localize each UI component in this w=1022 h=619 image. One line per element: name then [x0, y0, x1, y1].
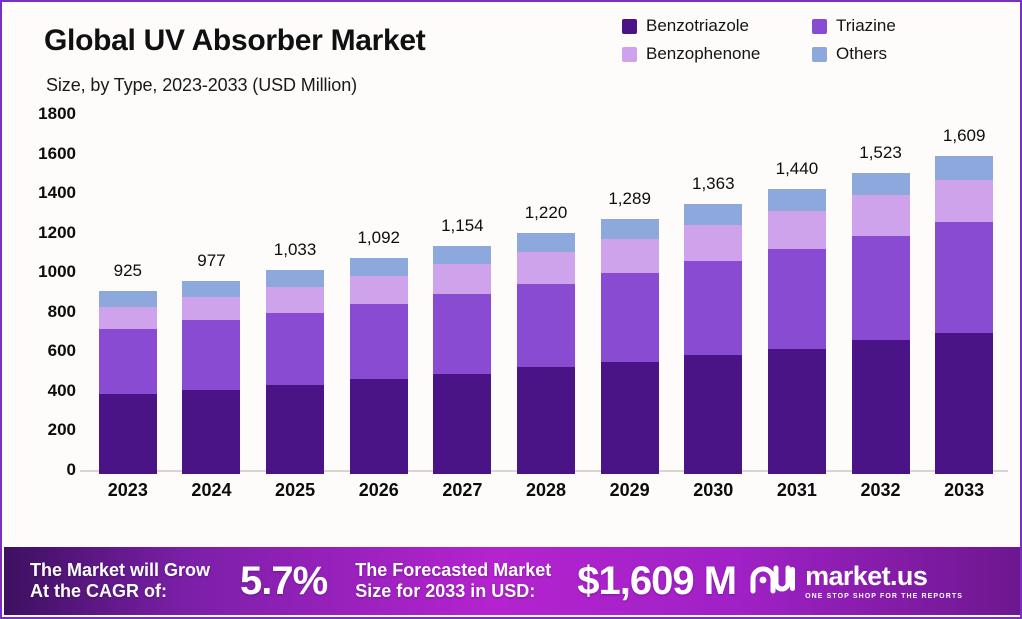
bar-total-label: 1,440 — [776, 159, 819, 179]
y-axis-tick: 1200 — [38, 223, 76, 243]
bar-total-label: 1,289 — [608, 189, 651, 209]
bar-segment-benzophenone[interactable] — [768, 211, 826, 249]
bar-segment-triazine[interactable] — [350, 304, 408, 379]
x-axis-label: 2033 — [944, 480, 984, 501]
bar-total-label: 1,154 — [441, 216, 484, 236]
x-axis-label: 2026 — [359, 480, 399, 501]
cagr-label-line2: At the CAGR of: — [30, 581, 210, 602]
y-axis-tick: 400 — [48, 381, 76, 401]
bar-column[interactable] — [601, 219, 659, 474]
logo-name: market.us — [805, 563, 963, 590]
bar-segment-triazine[interactable] — [852, 236, 910, 341]
footer-banner: The Market will Grow At the CAGR of: 5.7… — [4, 547, 1022, 615]
bar-segment-triazine[interactable] — [768, 249, 826, 349]
forecast-value: $1,609 M — [577, 558, 736, 604]
y-axis-tick: 600 — [48, 341, 76, 361]
bar-segment-benzophenone[interactable] — [99, 307, 157, 329]
bar-segment-benzotriazole[interactable] — [852, 340, 910, 474]
bar-segment-triazine[interactable] — [935, 222, 993, 333]
forecast-label-line1: The Forecasted Market — [355, 560, 551, 581]
bar-total-label: 1,092 — [357, 228, 400, 248]
y-axis-tick: 1400 — [38, 183, 76, 203]
logo-tagline: ONE STOP SHOP FOR THE REPORTS — [805, 593, 963, 600]
bar-segment-others[interactable] — [852, 173, 910, 195]
legend-item-benzophenone[interactable]: Benzophenone — [622, 44, 812, 64]
legend-label: Others — [836, 44, 887, 64]
bar-segment-others[interactable] — [99, 291, 157, 307]
y-axis-tick: 1800 — [38, 104, 76, 124]
bar-segment-benzotriazole[interactable] — [935, 333, 993, 474]
bar-total-label: 1,363 — [692, 174, 735, 194]
bar-segment-triazine[interactable] — [182, 320, 240, 390]
bar-segment-triazine[interactable] — [684, 261, 742, 355]
bar-total-label: 925 — [114, 261, 142, 281]
x-axis-label: 2031 — [777, 480, 817, 501]
y-axis: 020040060080010001200140016001800 — [2, 107, 76, 479]
y-axis-tick: 1600 — [38, 144, 76, 164]
legend-item-others[interactable]: Others — [812, 44, 1002, 64]
bar-segment-benzophenone[interactable] — [266, 287, 324, 313]
bar-segment-benzophenone[interactable] — [601, 239, 659, 273]
bar-segment-benzophenone[interactable] — [350, 276, 408, 304]
bar-column[interactable] — [935, 156, 993, 474]
bar-segment-benzotriazole[interactable] — [99, 394, 157, 474]
legend-label: Benzotriazole — [646, 16, 749, 36]
bar-segment-benzotriazole[interactable] — [684, 355, 742, 474]
market-us-logo: market.us ONE STOP SHOP FOR THE REPORTS — [750, 563, 963, 600]
y-axis-tick: 800 — [48, 302, 76, 322]
bar-segment-benzotriazole[interactable] — [601, 362, 659, 474]
bar-segment-others[interactable] — [768, 189, 826, 210]
bar-column[interactable] — [350, 258, 408, 474]
bar-column[interactable] — [684, 204, 742, 474]
bar-column[interactable] — [182, 281, 240, 474]
bar-segment-triazine[interactable] — [517, 284, 575, 367]
y-axis-tick: 1000 — [38, 262, 76, 282]
forecast-label-line2: Size for 2033 in USD: — [355, 581, 551, 602]
bar-segment-others[interactable] — [684, 204, 742, 225]
plot-area: 9259771,0331,0921,1541,2201,2891,3631,44… — [86, 114, 1006, 474]
bar-column[interactable] — [517, 233, 575, 474]
bar-segment-benzotriazole[interactable] — [433, 374, 491, 474]
bar-segment-benzotriazole[interactable] — [768, 349, 826, 474]
bar-segment-triazine[interactable] — [266, 313, 324, 385]
x-axis-label: 2032 — [861, 480, 901, 501]
bar-column[interactable] — [266, 270, 324, 474]
cagr-label: The Market will Grow At the CAGR of: — [30, 560, 210, 601]
bar-total-label: 1,523 — [859, 143, 902, 163]
y-axis-tick: 0 — [67, 460, 76, 480]
bar-segment-benzophenone[interactable] — [852, 195, 910, 236]
bar-total-label: 977 — [197, 251, 225, 271]
x-axis-label: 2023 — [108, 480, 148, 501]
bar-segment-benzophenone[interactable] — [517, 252, 575, 284]
bar-segment-benzophenone[interactable] — [433, 264, 491, 293]
x-axis-label: 2024 — [191, 480, 231, 501]
market-us-wordmark: market.us ONE STOP SHOP FOR THE REPORTS — [805, 563, 963, 600]
cagr-label-line1: The Market will Grow — [30, 560, 210, 581]
market-us-mark-icon — [750, 564, 796, 599]
bar-segment-benzotriazole[interactable] — [350, 379, 408, 474]
chart-legend: BenzotriazoleTriazineBenzophenoneOthers — [622, 16, 1002, 72]
x-axis-label: 2027 — [442, 480, 482, 501]
bar-segment-triazine[interactable] — [601, 273, 659, 362]
bar-segment-others[interactable] — [517, 233, 575, 252]
legend-swatch-benzophenone — [622, 47, 637, 62]
bar-segment-benzophenone[interactable] — [935, 180, 993, 223]
bar-segment-benzophenone[interactable] — [684, 225, 742, 261]
x-axis-label: 2025 — [275, 480, 315, 501]
x-axis-label: 2029 — [610, 480, 650, 501]
legend-label: Benzophenone — [646, 44, 760, 64]
legend-swatch-triazine — [812, 19, 827, 34]
x-axis-label: 2028 — [526, 480, 566, 501]
bar-segment-benzotriazole[interactable] — [266, 385, 324, 474]
bar-segment-triazine[interactable] — [99, 329, 157, 394]
bar-segment-others[interactable] — [433, 246, 491, 265]
bar-column[interactable] — [99, 291, 157, 474]
bar-total-label: 1,220 — [525, 203, 568, 223]
bar-segment-benzotriazole[interactable] — [517, 367, 575, 474]
bar-column[interactable] — [852, 173, 910, 474]
bar-segment-others[interactable] — [350, 258, 408, 276]
legend-swatch-benzotriazole — [622, 19, 637, 34]
bar-segment-benzophenone[interactable] — [182, 297, 240, 321]
bar-column[interactable] — [433, 246, 491, 474]
cagr-value: 5.7% — [240, 558, 327, 604]
page-subtitle: Size, by Type, 2023-2033 (USD Million) — [46, 75, 357, 96]
bar-total-label: 1,609 — [943, 126, 986, 146]
legend-item-benzotriazole[interactable]: Benzotriazole — [622, 16, 812, 36]
bar-segment-others[interactable] — [266, 270, 324, 287]
legend-swatch-others — [812, 47, 827, 62]
x-axis-label: 2030 — [693, 480, 733, 501]
x-axis: 2023202420252026202720282029203020312032… — [86, 472, 1006, 512]
bar-segment-others[interactable] — [182, 281, 240, 297]
bar-segment-others[interactable] — [601, 219, 659, 239]
forecast-label: The Forecasted Market Size for 2033 in U… — [355, 560, 551, 601]
chart-card: Global UV Absorber Market Size, by Type,… — [0, 0, 1022, 619]
bar-column[interactable] — [768, 189, 826, 474]
y-axis-tick: 200 — [48, 420, 76, 440]
bar-total-label: 1,033 — [274, 240, 317, 260]
bar-segment-triazine[interactable] — [433, 294, 491, 374]
legend-label: Triazine — [836, 16, 896, 36]
bar-segment-benzotriazole[interactable] — [182, 390, 240, 474]
legend-item-triazine[interactable]: Triazine — [812, 16, 1002, 36]
bar-segment-others[interactable] — [935, 156, 993, 180]
page-title: Global UV Absorber Market — [44, 24, 425, 58]
